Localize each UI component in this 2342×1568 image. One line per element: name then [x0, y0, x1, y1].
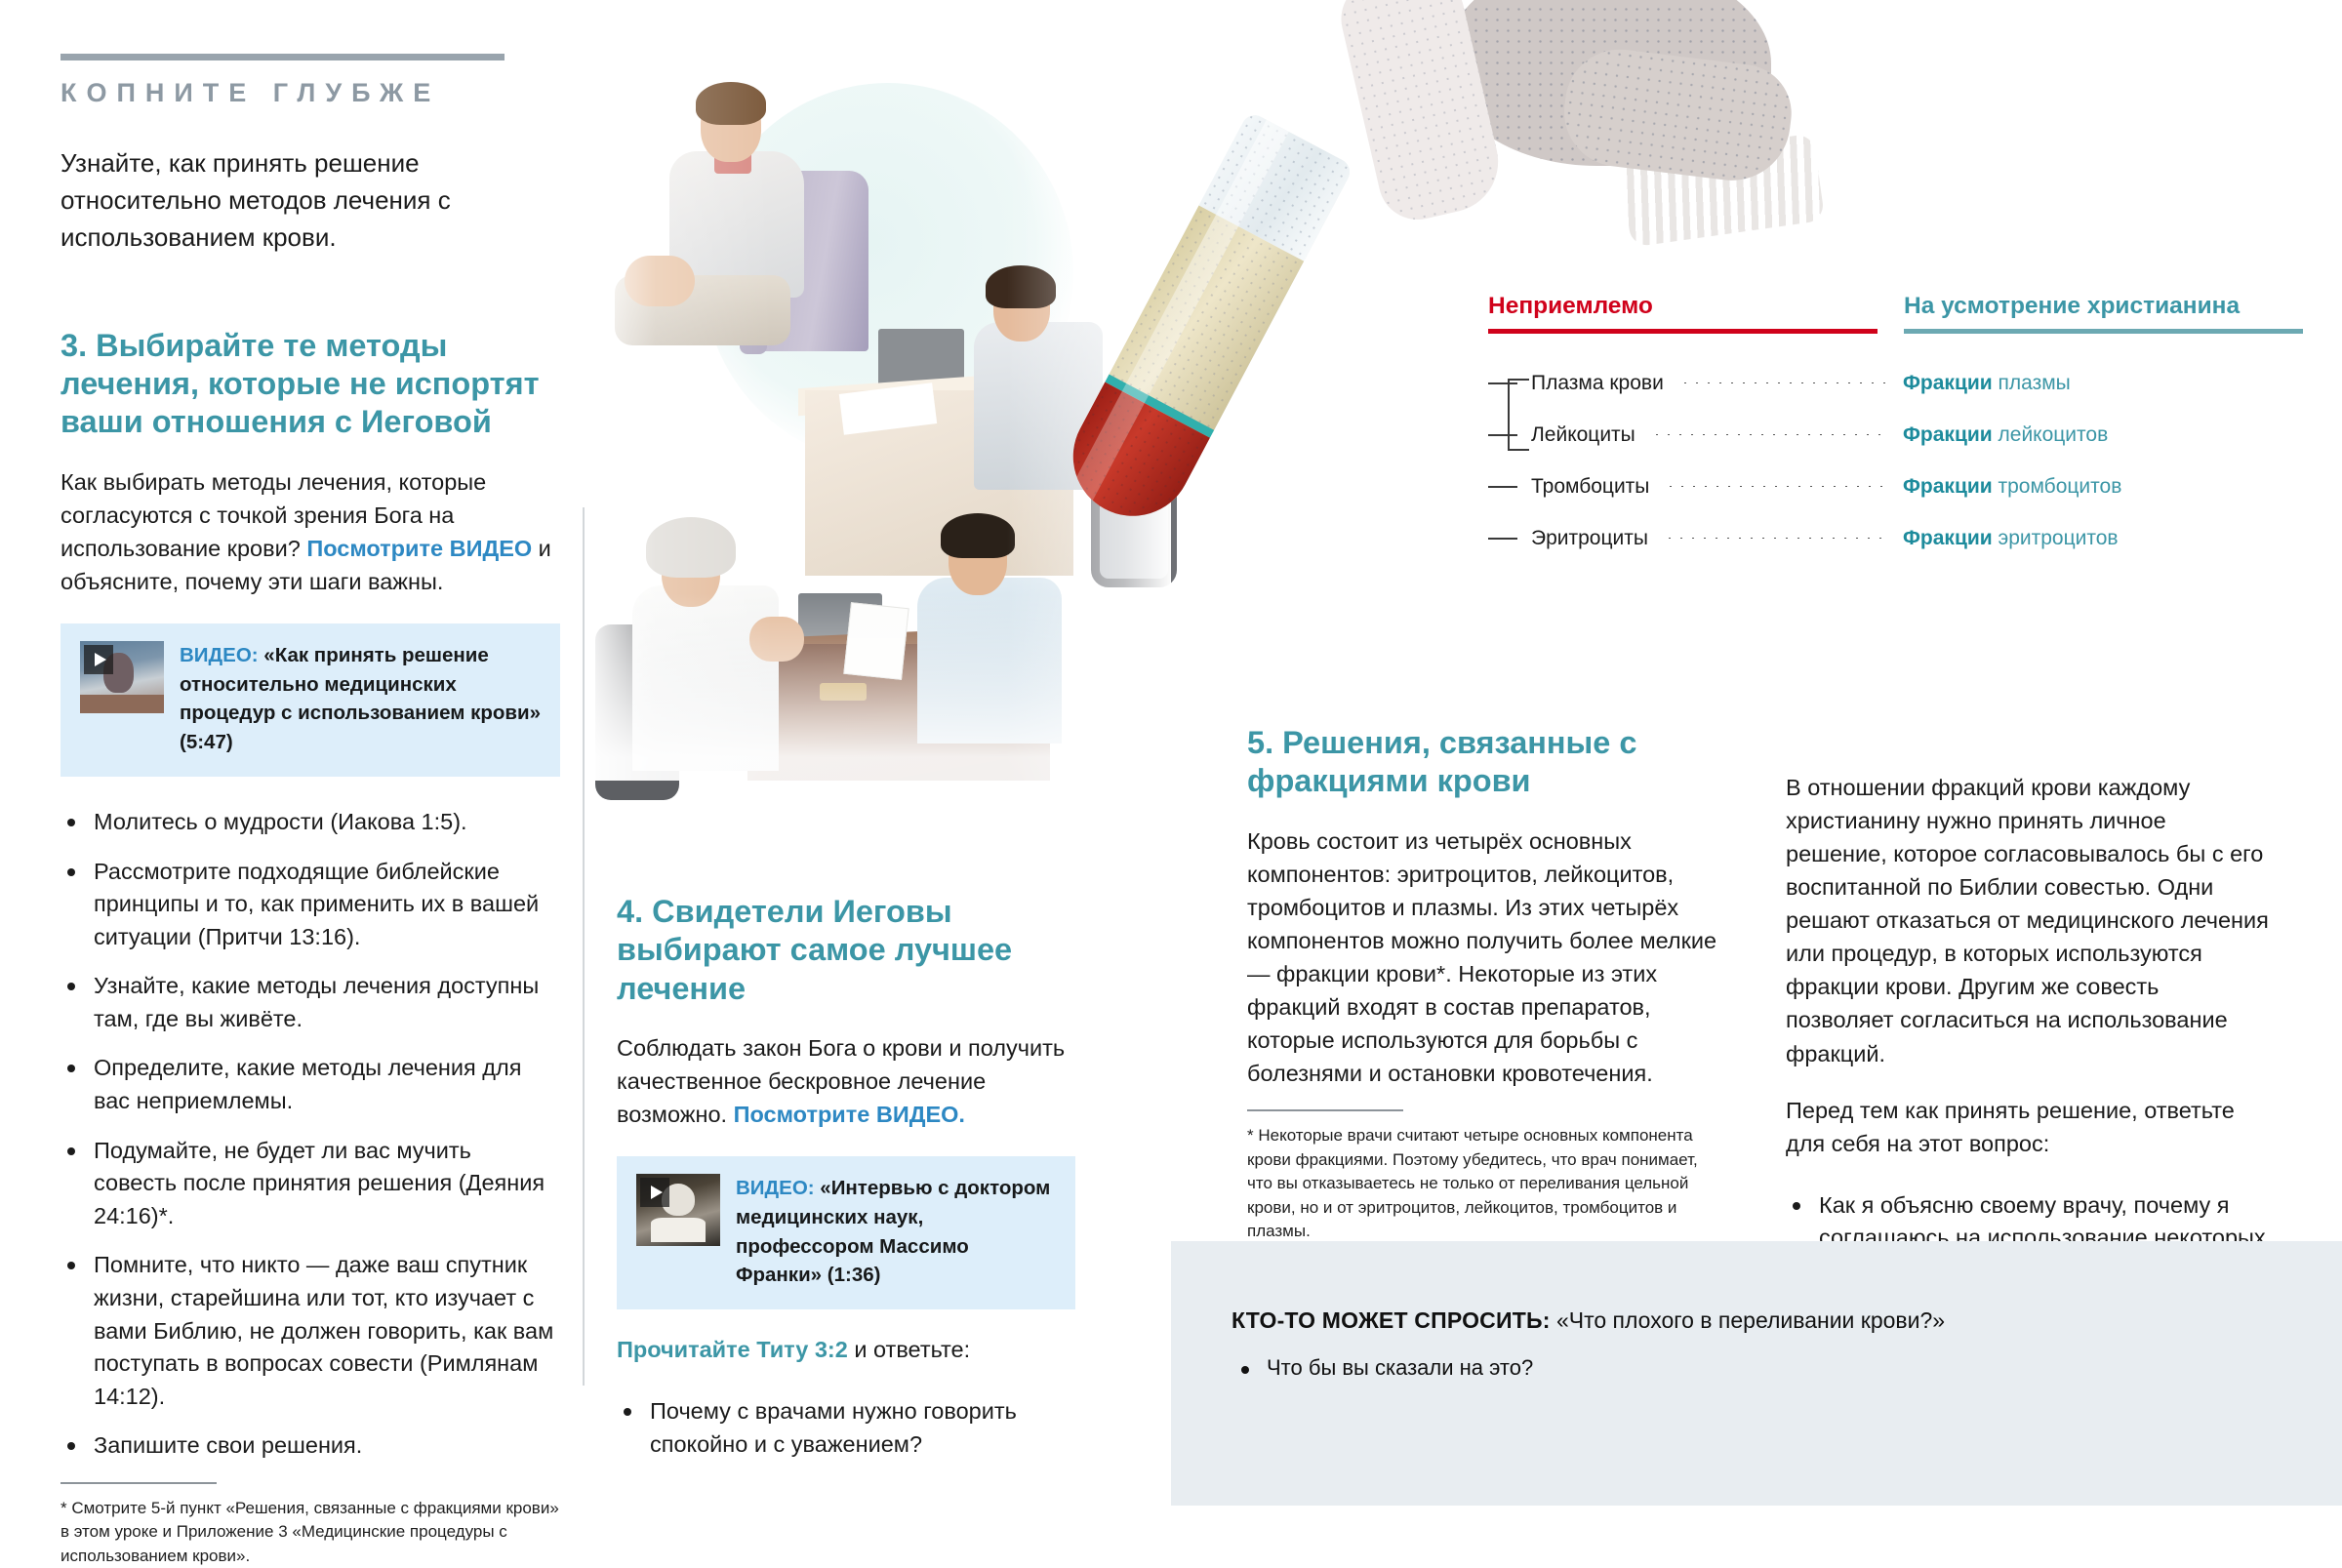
footnote-rule: [61, 1482, 217, 1484]
page-kicker: КОПНИТЕ ГЛУБЖЕ: [61, 78, 560, 108]
dotted-leader: [1651, 433, 1889, 436]
section-5-body: Кровь состоит из четырёх основных компон…: [1247, 824, 1727, 1091]
component-label: Плазма крови: [1531, 372, 1664, 395]
list-item: Определите, какие методы лечения для вас…: [61, 1052, 560, 1117]
list-item: Что бы вы сказали на это?: [1232, 1355, 2342, 1381]
component-label: Лейкоциты: [1531, 423, 1635, 447]
question-text: «Что плохого в переливании крови?»: [1551, 1307, 1946, 1333]
play-icon[interactable]: [640, 1178, 669, 1207]
section-3-intro: Как выбирать методы лечения, которые сог…: [61, 465, 560, 598]
legend-row-erythrocytes: Эритроциты Фракции эритроцитов: [1488, 512, 2303, 564]
gloved-hand: [1332, 0, 1791, 283]
component-label: Эритроциты: [1531, 527, 1648, 550]
section-4-body: Соблюдать закон Бога о крови и получить …: [617, 1031, 1075, 1131]
panel-content: КТО-ТО МОЖЕТ СПРОСИТЬ: «Что плохого в пе…: [1171, 1241, 2342, 1381]
leader-dash-icon: [1488, 486, 1517, 488]
column-divider: [583, 507, 585, 1386]
list-item: Запишите свои решения.: [61, 1429, 560, 1463]
video-label: ВИДЕО:: [180, 644, 259, 666]
list-item: Молитесь о мудрости (Иакова 1:5).: [61, 806, 560, 839]
fraction-label: Фракции тромбоцитов: [1903, 475, 2303, 499]
list-item: Подумайте, не будет ли вас мучить совест…: [61, 1135, 560, 1233]
dotted-leader: [1665, 485, 1889, 488]
blood-components-legend: Неприемлемо На усмотрение христианина Пл…: [1488, 293, 2303, 564]
kicker-rule: [61, 54, 505, 60]
fraction-label: Фракции эритроцитов: [1903, 527, 2303, 550]
play-icon[interactable]: [84, 645, 113, 674]
read-prompt-after: и ответьте:: [848, 1337, 970, 1362]
legend-row-plasma: Плазма крови Фракции плазмы: [1488, 357, 2303, 409]
section-4-read-prompt: Прочитайте Титу 3:2 и ответьте:: [617, 1333, 1075, 1366]
section-3-bullet-list: Молитесь о мудрости (Иакова 1:5). Рассмо…: [61, 806, 560, 1463]
someone-may-ask-panel: КТО-ТО МОЖЕТ СПРОСИТЬ: «Что плохого в пе…: [1171, 1241, 2342, 1506]
left-column: КОПНИТЕ ГЛУБЖЕ Узнайте, как принять реше…: [61, 54, 560, 1568]
fraction-label: Фракции лейкоцитов: [1903, 423, 2303, 447]
someone-may-ask-label: КТО-ТО МОЖЕТ СПРОСИТЬ:: [1232, 1307, 1551, 1333]
list-item: Почему с врачами нужно говорить спокойно…: [617, 1395, 1075, 1461]
section-5-heading: 5. Решения, связанные с фракциями крови: [1247, 724, 1727, 801]
list-item: Помните, что никто — даже ваш спутник жи…: [61, 1249, 560, 1413]
leader-dash-icon: [1488, 538, 1517, 540]
video-label: ВИДЕО:: [736, 1177, 815, 1199]
section-5-right-paragraph-1: В отношении фракций крови каждому христи…: [1786, 771, 2269, 1070]
section-5-right-column: В отношении фракций крови каждому христи…: [1786, 771, 2269, 1304]
footnote-text: * Смотрите 5-й пункт «Решения, связанные…: [61, 1497, 560, 1568]
watch-video-link[interactable]: Посмотрите ВИДЕО: [306, 536, 532, 561]
legend-col-unacceptable: Неприемлемо: [1488, 293, 1878, 334]
buffy-coat-bracket: [1508, 379, 1529, 451]
section-4-column: 4. Свидетели Иеговы выбирают самое лучше…: [617, 893, 1075, 1477]
legend-col-conscience: На усмотрение христианина: [1904, 293, 2303, 334]
section-5-column: 5. Решения, связанные с фракциями крови …: [1247, 724, 1727, 1243]
component-label: Тромбоциты: [1531, 475, 1649, 499]
list-item: Рассмотрите подходящие библейские принци…: [61, 856, 560, 954]
legend-header-row: Неприемлемо На усмотрение христианина: [1488, 293, 2303, 334]
video-thumbnail[interactable]: [80, 641, 164, 713]
panel-bullet-list: Что бы вы сказали на это?: [1232, 1355, 2342, 1381]
section-4-heading: 4. Свидетели Иеговы выбирают самое лучше…: [617, 893, 1075, 1008]
video-caption: ВИДЕО: «Интервью с доктором медицинских …: [736, 1174, 1056, 1290]
illustration-fade-vertical: [585, 0, 1171, 781]
section-5-footnote: * Некоторые врачи считают четыре основны…: [1247, 1109, 1727, 1243]
watch-video-link[interactable]: Посмотрите ВИДЕО.: [734, 1102, 965, 1127]
someone-may-ask-question: КТО-ТО МОЖЕТ СПРОСИТЬ: «Что плохого в пе…: [1232, 1307, 2342, 1334]
section-5-right-paragraph-2: Перед тем как принять решение, ответьте …: [1786, 1094, 2269, 1160]
footnote-rule: [1247, 1109, 1403, 1111]
section-3-footnote: * Смотрите 5-й пункт «Решения, связанные…: [61, 1482, 560, 1568]
section-4-bullet-list: Почему с врачами нужно говорить спокойно…: [617, 1395, 1075, 1461]
scripture-link[interactable]: Прочитайте Титу 3:2: [617, 1337, 848, 1362]
fraction-label: Фракции плазмы: [1903, 372, 2303, 395]
dotted-leader: [1664, 537, 1889, 540]
document-page: Неприемлемо На усмотрение христианина Пл…: [0, 0, 2342, 1506]
footnote-text: * Некоторые врачи считают четыре основны…: [1247, 1124, 1727, 1243]
list-item: Узнайте, какие методы лечения доступны т…: [61, 970, 560, 1035]
video-caption: ВИДЕО: «Как принять решение относительно…: [180, 641, 541, 757]
video-thumbnail[interactable]: [636, 1174, 720, 1246]
page-lede: Узнайте, как принять решение относительн…: [61, 145, 560, 257]
video-card-franchi-interview[interactable]: ВИДЕО: «Интервью с доктором медицинских …: [617, 1156, 1075, 1309]
video-card-blood-decisions[interactable]: ВИДЕО: «Как принять решение относительно…: [61, 623, 560, 777]
legend-row-leukocytes: Лейкоциты Фракции лейкоцитов: [1488, 409, 2303, 461]
legend-row-platelets: Тромбоциты Фракции тромбоцитов: [1488, 461, 2303, 512]
section-3-heading: 3. Выбирайте те методы лечения, которые …: [61, 327, 560, 442]
legend-rows: Плазма крови Фракции плазмы Лейкоциты Фр…: [1488, 357, 2303, 564]
illustration-consultation-scenes: [585, 0, 1171, 781]
dotted-leader: [1679, 382, 1889, 384]
